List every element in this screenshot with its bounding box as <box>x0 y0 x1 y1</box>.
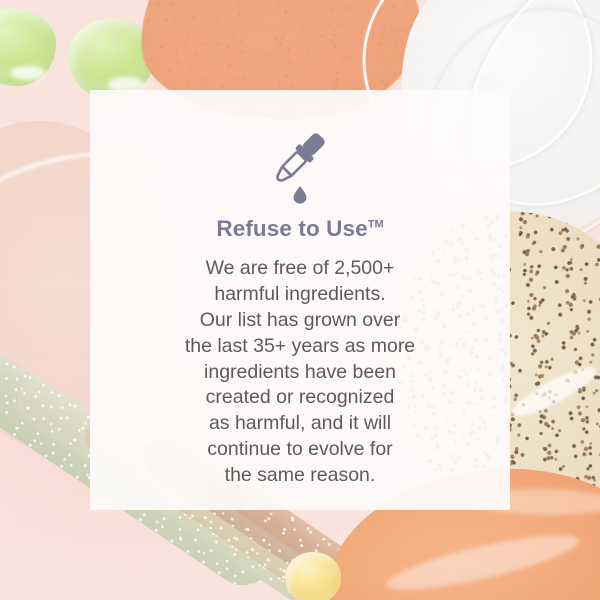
card-body-text: We are free of 2,500+ harmful ingredient… <box>185 256 415 489</box>
oil-drop-bottom <box>285 552 341 600</box>
body-line: continue to evolve for <box>185 437 415 463</box>
promo-graphic: Refuse to UseTM We are free of 2,500+ ha… <box>0 0 600 600</box>
body-line: created or recognized <box>185 385 415 411</box>
content-card: Refuse to UseTM We are free of 2,500+ ha… <box>90 90 510 510</box>
page-title: Refuse to UseTM <box>216 216 383 242</box>
body-line: Our list has grown over <box>185 308 415 334</box>
body-line: the same reason. <box>185 463 415 489</box>
body-line: harmful ingredients. <box>185 282 415 308</box>
body-line: We are free of 2,500+ <box>185 256 415 282</box>
trademark-symbol: TM <box>368 219 384 231</box>
page-title-text: Refuse to Use <box>216 216 367 241</box>
dropper-icon <box>269 128 331 204</box>
body-line: ingredients have been <box>185 360 415 386</box>
body-line: the last 35+ years as more <box>185 334 415 360</box>
body-line: as harmful, and it will <box>185 411 415 437</box>
